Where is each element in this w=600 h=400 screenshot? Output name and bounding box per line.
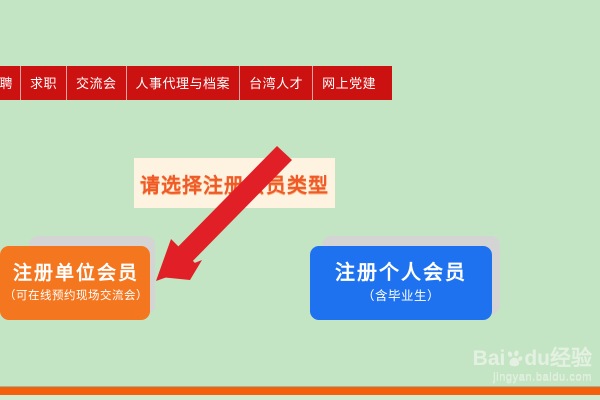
watermark-brand-suffix: du: [524, 348, 550, 369]
watermark-logo: Bai du 经验: [452, 348, 592, 369]
nav-item-jobseeking[interactable]: 求职: [21, 66, 67, 100]
register-organization-member-button[interactable]: 注册单位会员 （可在线预约现场交流会）: [0, 246, 150, 320]
nav-item-recruitment[interactable]: 招聘: [0, 66, 21, 100]
nav-item-label: 交流会: [76, 77, 117, 90]
personal-button-title: 注册个人会员: [335, 262, 467, 285]
watermark-brand-prefix: Bai: [473, 348, 506, 369]
nav-item-online-party-building[interactable]: 网上党建: [313, 66, 385, 100]
register-personal-member-button[interactable]: 注册个人会员 （含毕业生）: [310, 246, 492, 320]
watermark-url-bottom: jingyan.baidu.com: [493, 372, 592, 384]
page-title: 请选择注册会员类型: [134, 158, 335, 208]
nav-item-label: 求职: [30, 77, 57, 90]
bottom-filler-strip: [0, 395, 600, 400]
baidu-paw-icon: [506, 350, 523, 367]
nav-item-taiwan-talent[interactable]: 台湾人才: [240, 66, 313, 100]
nav-item-label: 人事代理与档案: [136, 77, 231, 90]
nav-item-hr-agency-and-archives[interactable]: 人事代理与档案: [127, 66, 241, 100]
nav-item-label: 招聘: [0, 77, 13, 90]
nav-item-label: 网上党建: [322, 77, 376, 90]
watermark-brand-cn: 经验: [550, 348, 592, 369]
org-button-title: 注册单位会员: [13, 263, 139, 285]
page-root: 招聘 求职 交流会 人事代理与档案 台湾人才 网上党建 请选择注册会员类型 注册…: [0, 0, 600, 400]
personal-button-subtitle: （含毕业生）: [362, 290, 440, 304]
nav-item-job-fair[interactable]: 交流会: [67, 66, 127, 100]
primary-navigation-bar: 招聘 求职 交流会 人事代理与档案 台湾人才 网上党建: [0, 66, 392, 100]
nav-item-label: 台湾人才: [249, 77, 303, 90]
bottom-orange-strip: [0, 387, 600, 395]
org-button-subtitle: （可在线预约现场交流会）: [4, 290, 148, 303]
